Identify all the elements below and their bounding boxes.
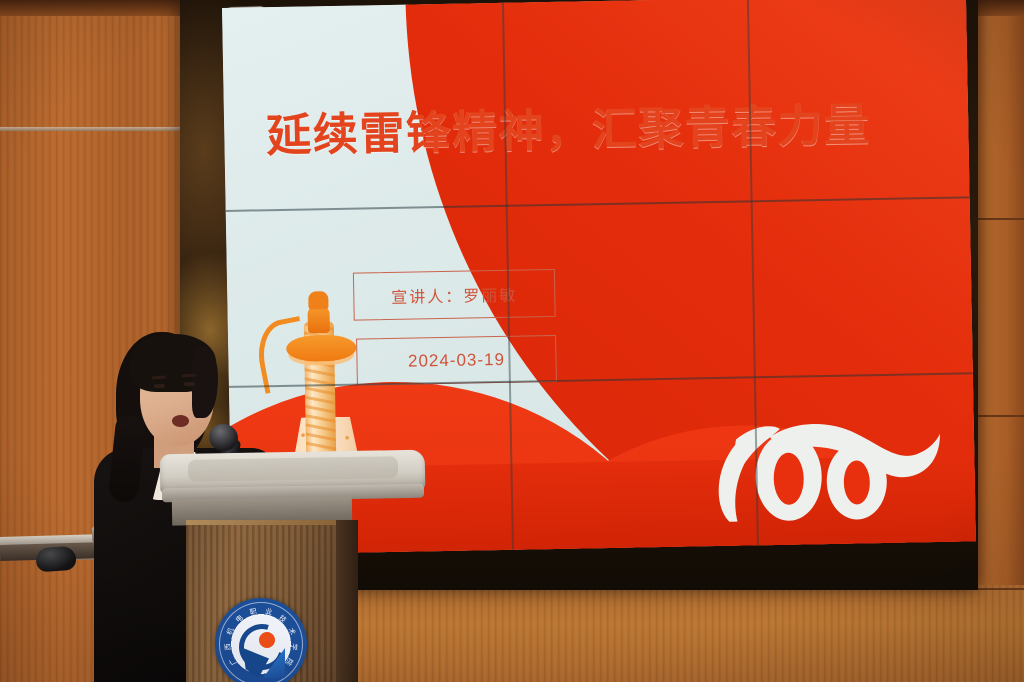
date-label: 2024-03-19 — [408, 349, 505, 371]
presenter-box: 宣讲人：罗丽敏 — [353, 269, 556, 321]
lecture-hall-photo: 延续雷锋精神，汇聚青春力量 宣讲人：罗丽敏 2024-03-19 — [0, 0, 1024, 682]
school-emblem: 广西机电职业技术学院 — [215, 598, 307, 682]
slide-title: 延续雷锋精神，汇聚青春力量 — [266, 100, 907, 159]
anniversary-100-logo — [683, 400, 955, 535]
emblem-sun-icon — [259, 632, 275, 648]
podium-top-highlight — [186, 520, 336, 525]
right-wall-seam-1 — [975, 218, 1024, 220]
podium-top-recess — [188, 456, 398, 482]
presenter-label: 宣讲人：罗丽敏 — [391, 282, 517, 308]
presenter-eye-left — [154, 384, 165, 388]
huabiao-beast-icon — [308, 291, 328, 309]
wall-trim-strip-upper — [0, 127, 200, 131]
computer-mouse[interactable] — [35, 546, 77, 573]
right-wall-seam-2 — [975, 415, 1024, 417]
presenter-mouth — [172, 415, 189, 427]
date-box: 2024-03-19 — [356, 335, 557, 386]
right-wall-seam-3 — [975, 588, 1024, 590]
presenter-eye-right — [184, 382, 195, 386]
podium-side-panel — [336, 520, 358, 682]
presenter-hair-side — [192, 346, 218, 418]
